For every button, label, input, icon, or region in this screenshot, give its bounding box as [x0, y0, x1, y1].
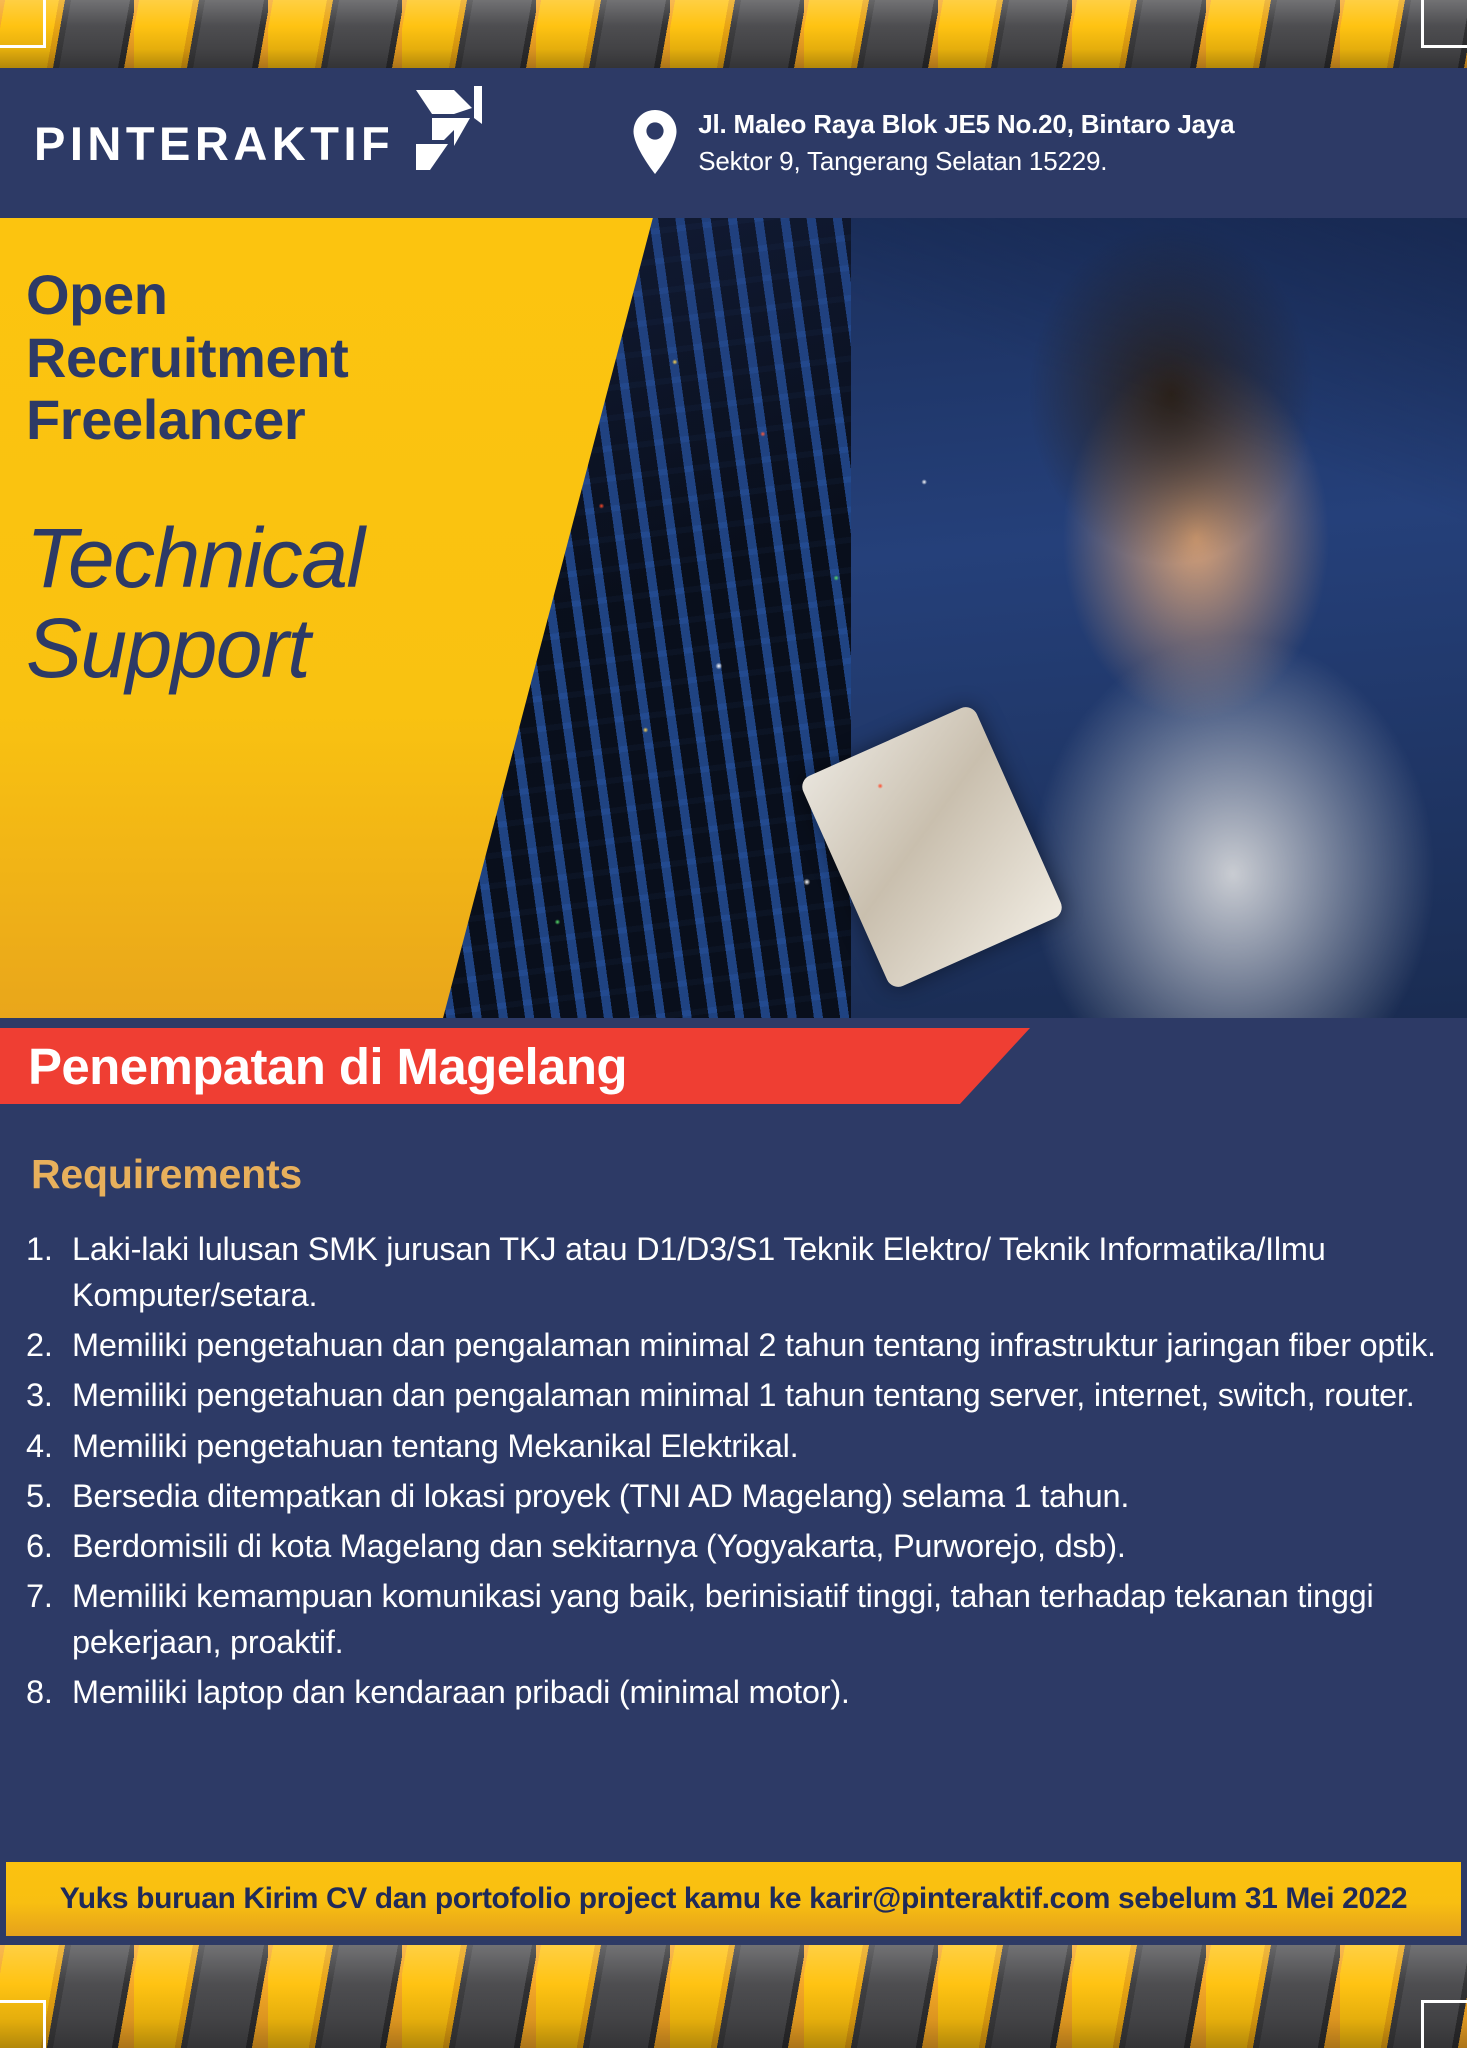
crop-mark-top-right-horizontal: [1423, 45, 1467, 48]
address-line-1: Jl. Maleo Raya Blok JE5 No.20, Bintaro J…: [698, 106, 1234, 143]
origami-bird-logo-icon: [408, 84, 504, 177]
address-line-2: Sektor 9, Tangerang Selatan 15229.: [698, 143, 1234, 180]
cta-bar: Yuks buruan Kirim CV dan portofolio proj…: [6, 1862, 1461, 1936]
caution-stripe-bottom: [0, 1945, 1467, 2048]
crop-mark-top-right-vertical: [1421, 0, 1424, 48]
requirements-heading: Requirements: [31, 1151, 1467, 1198]
logo-wordmark: PINTERAKTIF: [34, 120, 394, 167]
requirement-text: Berdomisili di kota Magelang dan sekitar…: [72, 1528, 1126, 1564]
requirement-number: 5.: [26, 1473, 53, 1519]
requirement-number: 7.: [26, 1573, 53, 1619]
crop-mark-bottom-right-vertical: [1421, 2000, 1424, 2048]
requirement-text: Laki-laki lulusan SMK jurusan TKJ atau D…: [72, 1231, 1326, 1313]
requirement-number: 8.: [26, 1669, 53, 1715]
requirement-item: 7. Memiliki kemampuan komunikasi yang ba…: [0, 1573, 1467, 1669]
brand-logo: PINTERAKTIF: [34, 110, 504, 177]
job-title: Technical Support: [26, 514, 546, 694]
hero-section: Open Recruitment Freelancer Technical Su…: [0, 218, 1467, 1018]
placement-banner: Penempatan di Magelang: [0, 1028, 1030, 1104]
job-title-line-1: Technical: [26, 514, 546, 604]
technician-figure: [851, 218, 1467, 1018]
caution-stripe-top: [0, 0, 1467, 68]
address-text: Jl. Maleo Raya Blok JE5 No.20, Bintaro J…: [698, 106, 1234, 180]
hero-text-block: Open Recruitment Freelancer Technical Su…: [26, 264, 546, 694]
requirement-item: 4. Memiliki pengetahuan tentang Mekanika…: [0, 1423, 1467, 1473]
hero-kicker: Open Recruitment Freelancer: [26, 264, 546, 452]
requirement-number: 4.: [26, 1423, 53, 1469]
requirement-item: 2. Memiliki pengetahuan dan pengalaman m…: [0, 1322, 1467, 1372]
requirement-item: 1. Laki-laki lulusan SMK jurusan TKJ ata…: [0, 1226, 1467, 1322]
job-title-line-2: Support: [26, 604, 546, 694]
crop-mark-bottom-left-vertical: [43, 2000, 46, 2048]
map-pin-icon: [632, 109, 678, 180]
company-address: Jl. Maleo Raya Blok JE5 No.20, Bintaro J…: [632, 106, 1234, 180]
hero-kicker-line-1: Open: [26, 264, 546, 327]
requirement-text: Memiliki kemampuan komunikasi yang baik,…: [72, 1578, 1373, 1660]
cta-text: Yuks buruan Kirim CV dan portofolio proj…: [60, 1882, 1407, 1916]
requirement-number: 3.: [26, 1372, 53, 1418]
requirement-text: Memiliki pengetahuan dan pengalaman mini…: [72, 1377, 1415, 1413]
crop-mark-top-left-vertical: [43, 0, 46, 48]
requirement-item: 6. Berdomisili di kota Magelang dan seki…: [0, 1523, 1467, 1573]
recruitment-poster: PINTERAKTIF Jl. Maleo: [0, 0, 1467, 2048]
hero-kicker-line-2: Recruitment: [26, 327, 546, 390]
requirement-number: 2.: [26, 1322, 53, 1368]
poster-header: PINTERAKTIF Jl. Maleo: [0, 68, 1467, 218]
crop-mark-bottom-right-horizontal: [1423, 2000, 1467, 2003]
requirement-text: Memiliki laptop dan kendaraan pribadi (m…: [72, 1674, 850, 1710]
requirements-list: 1. Laki-laki lulusan SMK jurusan TKJ ata…: [0, 1226, 1467, 1719]
requirement-text: Memiliki pengetahuan tentang Mekanikal E…: [72, 1428, 798, 1464]
requirement-number: 1.: [26, 1226, 53, 1272]
tablet-device: [798, 703, 1065, 990]
requirement-number: 6.: [26, 1523, 53, 1569]
requirements-section: Requirements 1. Laki-laki lulusan SMK ju…: [0, 1104, 1467, 1719]
requirement-item: 5. Bersedia ditempatkan di lokasi proyek…: [0, 1473, 1467, 1523]
requirement-text: Memiliki pengetahuan dan pengalaman mini…: [72, 1327, 1436, 1363]
requirement-item: 8. Memiliki laptop dan kendaraan pribadi…: [0, 1669, 1467, 1719]
placement-banner-text: Penempatan di Magelang: [28, 1041, 627, 1092]
crop-mark-bottom-left-horizontal: [0, 2000, 44, 2003]
hero-kicker-line-3: Freelancer: [26, 389, 546, 452]
requirement-text: Bersedia ditempatkan di lokasi proyek (T…: [72, 1478, 1129, 1514]
requirement-item: 3. Memiliki pengetahuan dan pengalaman m…: [0, 1372, 1467, 1422]
crop-mark-top-left-horizontal: [0, 45, 44, 48]
